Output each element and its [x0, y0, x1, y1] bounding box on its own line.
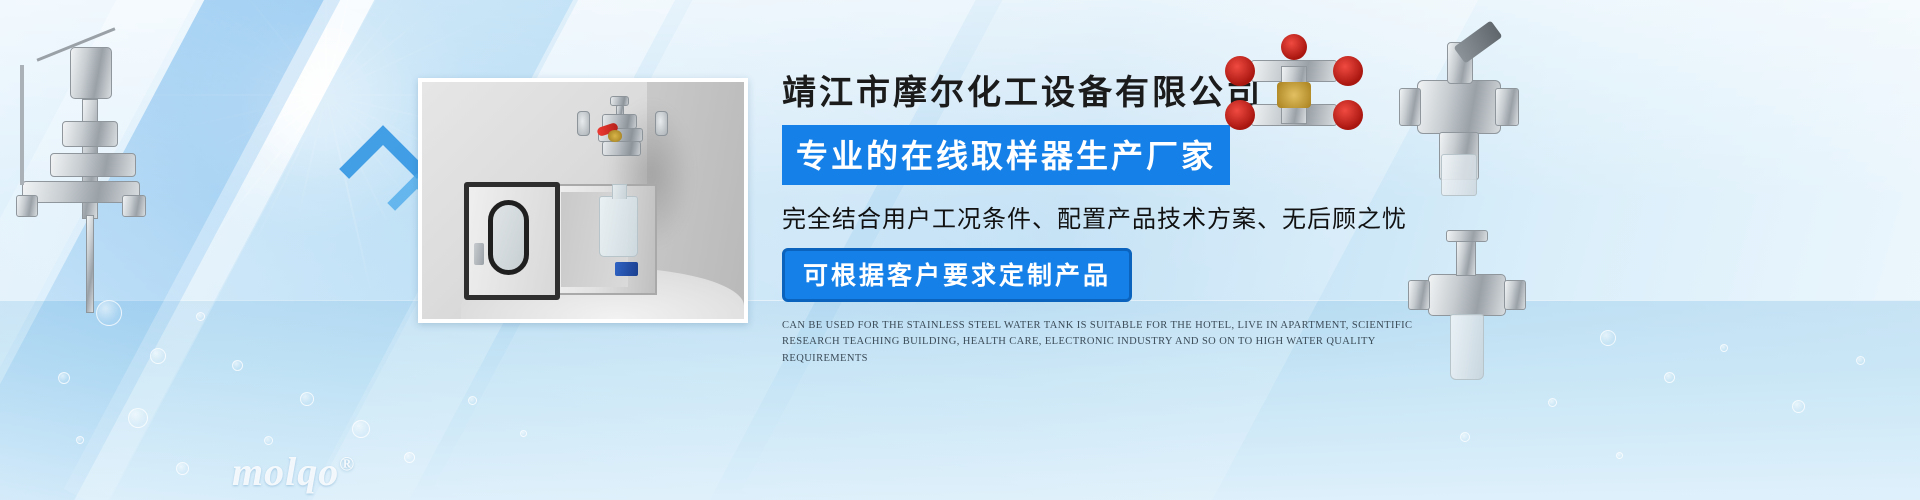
water-bubble-icon: [1856, 356, 1865, 365]
water-bubble-icon: [232, 360, 243, 371]
water-bubble-icon: [300, 392, 314, 406]
water-bubble-icon: [352, 420, 370, 438]
water-bubble-icon: [196, 312, 205, 321]
english-description: CAN BE USED FOR THE STAINLESS STEEL WATE…: [782, 318, 1422, 367]
water-bubble-icon: [1664, 372, 1675, 383]
water-bubble-icon: [520, 430, 527, 437]
registered-mark-icon: ®: [339, 454, 355, 476]
right-product-inline-sampler: [1398, 228, 1538, 400]
right-product-flanged-valve: [1395, 36, 1525, 206]
watermark-text: molqo: [232, 449, 339, 494]
water-bubble-icon: [150, 348, 166, 364]
right-product-cross-manifold: [1215, 42, 1375, 142]
water-bubble-icon: [128, 408, 148, 428]
water-bubble-icon: [1460, 432, 1470, 442]
tagline-badge: 专业的在线取样器生产厂家: [782, 125, 1230, 185]
water-bubble-icon: [176, 462, 189, 475]
promo-banner: 靖江市摩尔化工设备有限公司 专业的在线取样器生产厂家 完全结合用户工况条件、配置…: [0, 0, 1920, 500]
water-bubble-icon: [404, 452, 415, 463]
water-bubble-icon: [264, 436, 273, 445]
custom-product-badge: 可根据客户要求定制产品: [782, 248, 1132, 302]
water-bubble-icon: [468, 396, 477, 405]
water-bubble-icon: [58, 372, 70, 384]
water-bubble-icon: [1548, 398, 1557, 407]
water-bubble-icon: [1616, 452, 1623, 459]
water-bubble-icon: [1792, 400, 1805, 413]
water-bubble-icon: [1600, 330, 1616, 346]
water-bubble-icon: [1720, 344, 1728, 352]
product-photo: [422, 82, 744, 319]
product-photo-frame: [418, 78, 748, 323]
subline-text: 完全结合用户工况条件、配置产品技术方案、无后顾之忧: [782, 199, 1402, 234]
watermark-logo: molqo®: [232, 448, 355, 495]
water-bubble-icon: [76, 436, 84, 444]
left-product-image: [10, 25, 160, 315]
